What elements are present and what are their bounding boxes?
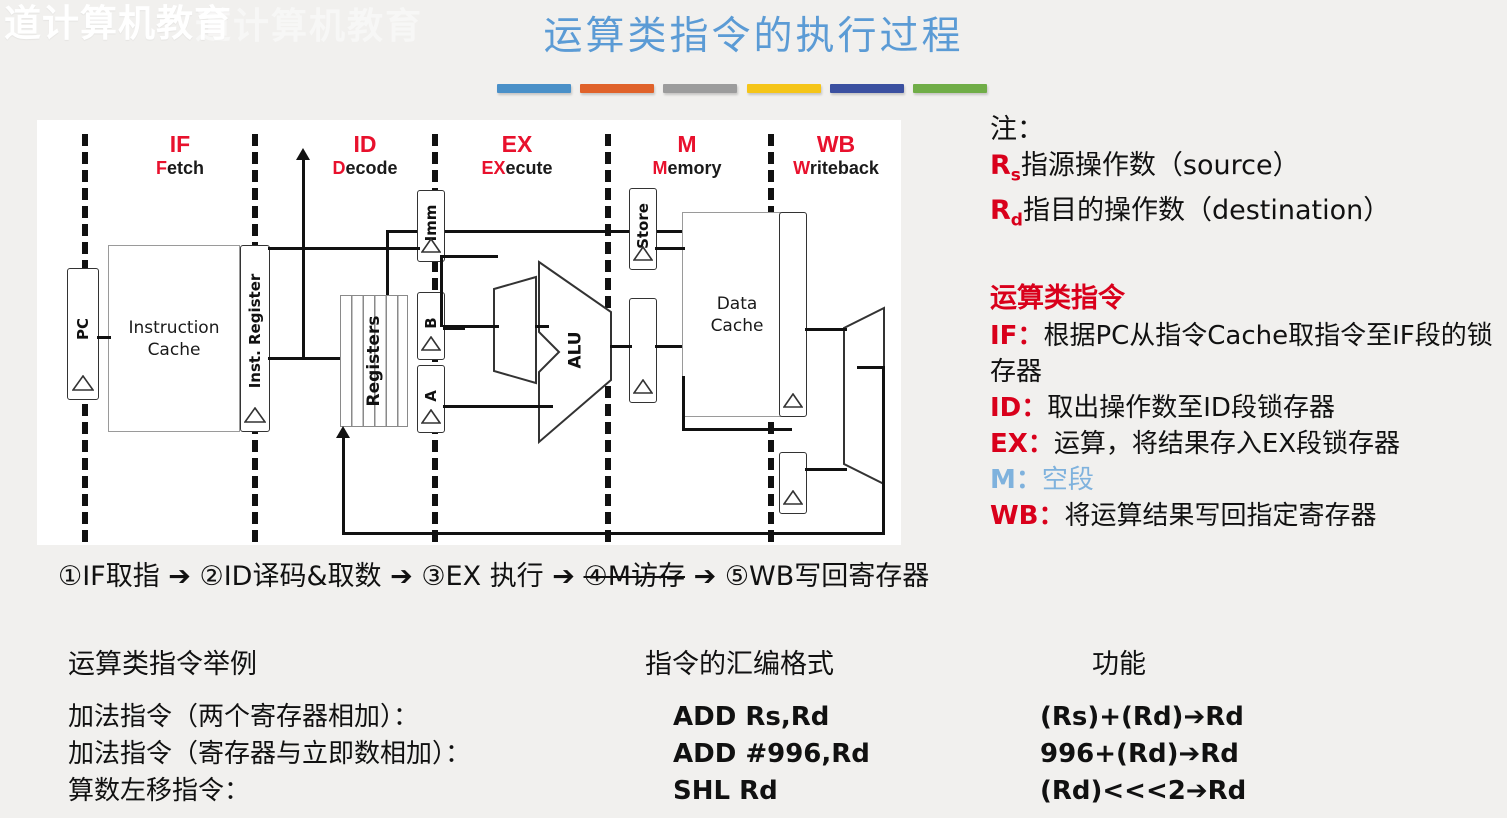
stage-label-id: ID Decode xyxy=(315,132,415,179)
latch-b-triangle xyxy=(421,336,441,356)
legend-rs-symbol: R xyxy=(990,150,1011,181)
wire-imm-mux-vertical xyxy=(440,255,443,327)
latch-mem-out xyxy=(779,212,807,417)
stage-full-wb: Writeback xyxy=(772,157,900,179)
accent-bar-navy xyxy=(830,84,904,93)
latch-inst-register-triangle xyxy=(244,407,266,428)
stage-label-ex: EX EXecute xyxy=(462,132,572,179)
table-column-function: 功能 (Rs)+(Rd)➔Rd 996+(Rd)➔Rd (Rd)<<<2➔Rd xyxy=(1040,645,1246,810)
table-row: ADD #996,Rd xyxy=(673,736,870,773)
step-arrow-2: ➔ xyxy=(390,561,413,592)
latch-imm-label: Imm xyxy=(422,205,440,242)
accent-bar-orange xyxy=(580,84,654,93)
page-title: 运算类指令的执行过程 xyxy=(0,12,1507,62)
table-header-function: 功能 xyxy=(1040,645,1246,685)
latch-imm: Imm xyxy=(417,190,445,262)
stage-abbr-ex: EX xyxy=(462,132,572,157)
stage-note-ex-text: 运算，将结果存入EX段锁存器 xyxy=(1054,429,1400,459)
stage-note-if: IF：根据PC从指令Cache取指令至IF段的锁存器 xyxy=(990,318,1505,390)
stage-full-id: Decode xyxy=(315,157,415,179)
wire-memout-to-wbmux xyxy=(805,328,847,331)
block-data-cache: DataCache xyxy=(682,212,792,417)
table-row: 加法指令（寄存器与立即数相加）： xyxy=(68,736,471,773)
stage-abbr-id: ID xyxy=(315,132,415,157)
stage-label-m: M Memory xyxy=(637,132,737,179)
table-row: (Rs)+(Rd)➔Rd xyxy=(1040,699,1246,736)
block-instruction-cache: InstructionCache xyxy=(108,245,240,432)
wire-alu-to-exlatch xyxy=(610,345,632,348)
latch-imm-triangle xyxy=(421,238,441,258)
step-4: ④M访存 xyxy=(584,561,686,592)
instruction-examples-table: 运算类指令举例 加法指令（两个寄存器相加）： 加法指令（寄存器与立即数相加）： … xyxy=(0,645,1507,818)
block-registers-label: Registers xyxy=(364,316,384,407)
stage-label-if: IF Fetch xyxy=(135,132,225,179)
wire-imm-to-mux xyxy=(443,255,498,258)
step-2: ②ID译码&取数 xyxy=(200,561,382,592)
latch-pc-triangle xyxy=(72,375,94,396)
latch-wb-bypass xyxy=(779,452,807,514)
stage-abbr-if: IF xyxy=(135,132,225,157)
table-row: 加法指令（两个寄存器相加）： xyxy=(68,699,471,736)
block-instruction-cache-label: InstructionCache xyxy=(109,246,239,431)
mux-writeback xyxy=(842,306,886,486)
arrow-writeback-into-registers xyxy=(336,426,350,438)
stage-note-m-tag: M： xyxy=(990,465,1042,495)
stage-note-if-tag: IF： xyxy=(990,321,1043,351)
stage-label-wb: WB Writeback xyxy=(772,132,900,179)
table-row: SHL Rd xyxy=(673,773,870,810)
step-arrow-1: ➔ xyxy=(168,561,191,592)
latch-ex-result-triangle xyxy=(633,379,653,399)
stage-note-m: M：空段 xyxy=(990,462,1505,498)
block-data-cache-label: DataCache xyxy=(683,213,791,416)
wire-dcache-bypass-horizontal xyxy=(682,428,792,431)
legend-rs-subscript: s xyxy=(1011,165,1021,185)
latch-pc: PC xyxy=(67,268,99,400)
latch-a-label: A xyxy=(422,391,440,403)
latch-wb-bypass-triangle xyxy=(783,490,803,510)
table-header-examples: 运算类指令举例 xyxy=(68,645,471,685)
arrow-pc-increment xyxy=(296,148,310,160)
latch-a-triangle xyxy=(421,409,441,429)
stage-notes-heading: 运算类指令 xyxy=(990,280,1505,318)
step-arrow-4: ➔ xyxy=(694,561,717,592)
slide-root: 道计算机教育 道计算机教育 运算类指令的执行过程 IF Fetch ID Dec… xyxy=(0,0,1507,818)
table-row: 算数左移指令： xyxy=(68,773,471,810)
table-row: ADD Rs,Rd xyxy=(673,699,870,736)
stage-note-id: ID：取出操作数至ID段锁存器 xyxy=(990,390,1505,426)
stage-note-wb-text: 将运算结果写回指定寄存器 xyxy=(1065,501,1377,531)
latch-a: A xyxy=(417,365,445,433)
latch-mem-out-triangle xyxy=(783,393,803,413)
stage-abbr-wb: WB xyxy=(772,132,900,157)
legend-notes: 注： Rs指源操作数（source） Rd指目的操作数（destination） xyxy=(990,112,1500,239)
wire-dcache-bypass-vertical xyxy=(682,376,685,431)
accent-bar-green xyxy=(913,84,987,93)
step-1: ①IF取指 xyxy=(58,561,160,592)
wire-exlatch-out xyxy=(655,345,683,348)
table-row: (Rd)<<<2➔Rd xyxy=(1040,773,1246,810)
accent-bar-gray xyxy=(663,84,737,93)
legend-rd: Rd指目的操作数（destination） xyxy=(990,193,1500,238)
latch-store-label: Store xyxy=(634,203,652,249)
step-5: ⑤WB写回寄存器 xyxy=(725,561,929,592)
wire-writeback-to-registers xyxy=(342,438,345,534)
stage-abbr-m: M xyxy=(637,132,737,157)
block-alu-label: ALU xyxy=(566,331,586,368)
accent-bar-row xyxy=(497,84,987,95)
table-row: 996+(Rd)➔Rd xyxy=(1040,736,1246,773)
pipeline-steps: ①IF取指 ➔ ②ID译码&取数 ➔ ③EX 执行 ➔ ④M访存 ➔ ⑤WB写回… xyxy=(58,558,929,596)
table-rows-examples: 加法指令（两个寄存器相加）： 加法指令（寄存器与立即数相加）： 算数左移指令： xyxy=(68,699,471,810)
table-rows-function: (Rs)+(Rd)➔Rd 996+(Rd)➔Rd (Rd)<<<2➔Rd xyxy=(1040,699,1246,810)
wire-a-to-alu xyxy=(443,405,553,408)
stage-note-ex: EX：运算，将结果存入EX段锁存器 xyxy=(990,426,1505,462)
table-header-assembly: 指令的汇编格式 xyxy=(645,645,870,685)
latch-ex-result xyxy=(629,298,657,403)
legend-heading: 注： xyxy=(990,112,1500,148)
stage-full-m: Memory xyxy=(637,157,737,179)
wire-decode-to-imm xyxy=(268,247,420,250)
latch-inst-register: Inst. Register xyxy=(240,245,270,432)
stage-note-id-text: 取出操作数至ID段锁存器 xyxy=(1047,393,1335,423)
step-3: ③EX 执行 xyxy=(421,561,543,592)
wire-pc-to-icache xyxy=(97,336,111,339)
block-registers: Registers xyxy=(340,295,408,427)
wire-wbmux-out xyxy=(857,366,885,369)
stage-note-ex-tag: EX： xyxy=(990,429,1054,459)
wire-store-to-dcache xyxy=(655,247,685,250)
latch-store: Store xyxy=(629,188,657,270)
stage-note-m-text: 空段 xyxy=(1042,465,1094,495)
step-arrow-3: ➔ xyxy=(552,561,575,592)
wire-b-mux-stub xyxy=(443,327,465,330)
wire-bypass-to-wbmux xyxy=(805,468,847,471)
stage-note-if-text: 根据PC从指令Cache取指令至IF段的锁存器 xyxy=(990,321,1493,387)
table-rows-assembly: ADD Rs,Rd ADD #996,Rd SHL Rd xyxy=(645,699,870,810)
legend-rd-text: 指目的操作数（destination） xyxy=(1023,195,1390,226)
stage-note-wb-tag: WB： xyxy=(990,501,1065,531)
legend-rd-symbol: R xyxy=(990,195,1011,226)
legend-rd-subscript: d xyxy=(1011,211,1023,231)
stage-full-ex: EXecute xyxy=(462,157,572,179)
wire-pc-increment-vertical xyxy=(302,160,305,360)
stage-notes: 运算类指令 IF：根据PC从指令Cache取指令至IF段的锁存器 ID：取出操作… xyxy=(990,280,1505,534)
latch-store-triangle xyxy=(633,246,653,266)
legend-rs: Rs指源操作数（source） xyxy=(990,148,1500,193)
table-column-assembly: 指令的汇编格式 ADD Rs,Rd ADD #996,Rd SHL Rd xyxy=(645,645,870,810)
stage-note-wb: WB：将运算结果写回指定寄存器 xyxy=(990,498,1505,534)
mux-alu-input xyxy=(492,275,538,385)
wire-mux-to-alu xyxy=(535,325,549,328)
legend-rs-text: 指源操作数（source） xyxy=(1021,150,1300,181)
wire-writeback-vertical xyxy=(882,366,885,534)
latch-pc-label: PC xyxy=(74,318,92,340)
accent-bar-yellow xyxy=(747,84,821,93)
wire-writeback-bus xyxy=(342,532,885,535)
stage-full-if: Fetch xyxy=(135,157,225,179)
table-column-examples: 运算类指令举例 加法指令（两个寄存器相加）： 加法指令（寄存器与立即数相加）： … xyxy=(68,645,471,810)
stage-note-id-tag: ID： xyxy=(990,393,1047,423)
latch-b-label: B xyxy=(422,318,440,329)
latch-inst-register-label: Inst. Register xyxy=(246,274,264,389)
accent-bar-blue xyxy=(497,84,571,93)
datapath-diagram-panel: IF Fetch ID Decode EX EXecute M Memory W… xyxy=(37,120,901,545)
